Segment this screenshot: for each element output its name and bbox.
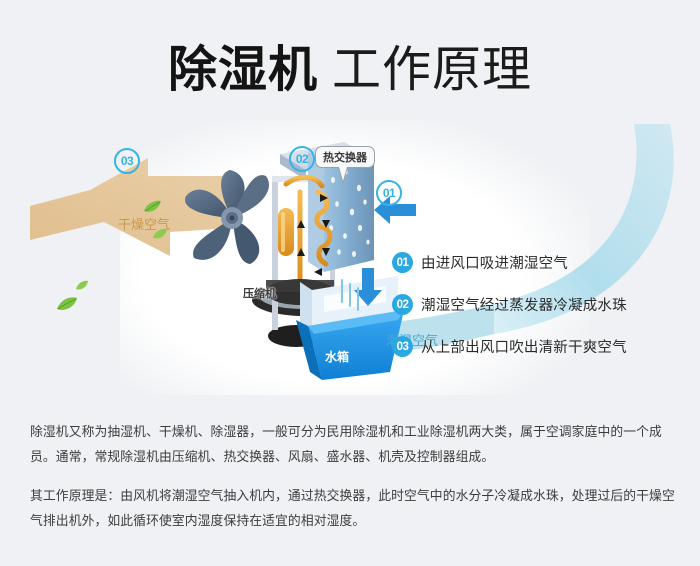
heat-exchanger-callout: 热交换器 xyxy=(315,146,375,168)
step-text-01: 由进风口吸进潮湿空气 xyxy=(421,252,568,273)
step-badge-02: 02 xyxy=(392,294,413,315)
body-paragraph-1: 除湿机又称为抽湿机、干燥机、除湿器，一般可分为民用除湿机和工业除湿机两大类，属于… xyxy=(30,420,675,470)
leaf-icon xyxy=(143,200,162,214)
step-badge-03: 03 xyxy=(392,336,413,357)
list-item: 03 从上部出风口吹出清新干爽空气 xyxy=(392,336,692,357)
body-copy: 除湿机又称为抽湿机、干燥机、除湿器，一般可分为民用除湿机和工业除湿机两大类，属于… xyxy=(30,420,675,534)
illustration-badge-01: 01 xyxy=(376,180,402,206)
water-tank-label: 水箱 xyxy=(325,348,349,365)
list-item: 01 由进风口吸进潮湿空气 xyxy=(392,252,692,273)
page-title-secondary: 工作原理 xyxy=(332,41,532,98)
illustration-badge-02: 02 xyxy=(289,146,315,172)
leaf-icon xyxy=(56,296,78,312)
page-title: 除湿机工作原理 xyxy=(0,30,700,101)
page-title-primary: 除湿机 xyxy=(168,41,318,98)
steps-list: 01 由进风口吸进潮湿空气 02 潮湿空气经过蒸发器冷凝成水珠 03 从上部出风… xyxy=(392,252,692,378)
infographic-page: 除湿机工作原理 xyxy=(0,0,700,566)
step-badge-01: 01 xyxy=(392,252,413,273)
leaf-icon xyxy=(75,280,89,291)
illustration-badge-03: 03 xyxy=(114,148,140,174)
list-item: 02 潮湿空气经过蒸发器冷凝成水珠 xyxy=(392,294,692,315)
step-text-03: 从上部出风口吹出清新干爽空气 xyxy=(421,336,627,357)
dry-air-label: 干燥空气 xyxy=(118,214,170,233)
body-paragraph-2: 其工作原理是：由风机将潮湿空气抽入机内，通过热交换器，此时空气中的水分子冷凝成水… xyxy=(30,484,675,534)
compressor-label: 压缩机 xyxy=(243,285,276,301)
step-text-02: 潮湿空气经过蒸发器冷凝成水珠 xyxy=(421,294,627,315)
